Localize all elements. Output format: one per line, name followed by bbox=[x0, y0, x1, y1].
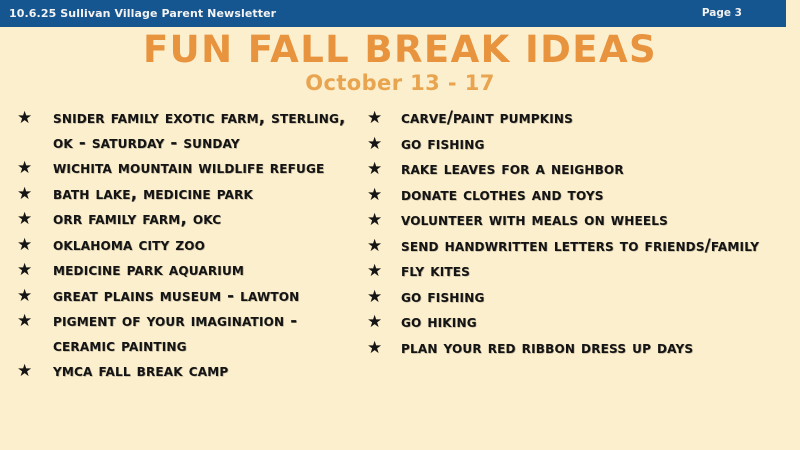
list-item-label: Great Plains Museum - Lawton bbox=[53, 284, 353, 309]
star-bullet-icon: ★ bbox=[17, 359, 39, 384]
star-bullet-icon: ★ bbox=[367, 183, 389, 208]
list-item: ★Oklahoma City Zoo bbox=[14, 233, 362, 258]
list-item: ★Plan Your Red Ribbon Dress Up Days bbox=[364, 336, 784, 361]
page-title: FUN FALL BREAK IDEAS bbox=[0, 29, 800, 71]
star-bullet-icon: ★ bbox=[367, 285, 389, 310]
list-item-label: Plan Your Red Ribbon Dress Up Days bbox=[401, 336, 784, 361]
list-item-label: Snider Family Exotic Farm, Sterling, OK … bbox=[53, 106, 353, 155]
header-bar: 10.6.25 Sullivan Village Parent Newslett… bbox=[0, 0, 786, 27]
list-item-label: Wichita Mountain Wildlife Refuge bbox=[53, 156, 353, 181]
page-number-label: Page 3 bbox=[702, 0, 742, 27]
list-item-label: Carve/Paint Pumpkins bbox=[401, 106, 784, 131]
ideas-list-left: ★Snider Family Exotic Farm, Sterling, OK… bbox=[14, 106, 362, 384]
star-bullet-icon: ★ bbox=[17, 258, 39, 283]
list-item: ★Go Fishing bbox=[364, 285, 784, 310]
star-bullet-icon: ★ bbox=[17, 182, 39, 207]
ideas-list-right: ★Carve/Paint Pumpkins★Go Fishing★Rake Le… bbox=[364, 106, 784, 360]
list-item: ★Fly Kites bbox=[364, 259, 784, 284]
star-bullet-icon: ★ bbox=[17, 207, 39, 232]
list-item: ★Carve/Paint Pumpkins bbox=[364, 106, 784, 131]
list-item: ★Wichita Mountain Wildlife Refuge bbox=[14, 156, 362, 181]
star-bullet-icon: ★ bbox=[17, 233, 39, 258]
ideas-column-left: ★Snider Family Exotic Farm, Sterling, OK… bbox=[14, 106, 362, 385]
list-item-label: Go Hiking bbox=[401, 310, 784, 335]
list-item-label: Go Fishing bbox=[401, 132, 784, 157]
list-item: ★Send Handwritten Letters to Friends/Fam… bbox=[364, 234, 784, 259]
list-item: ★Donate Clothes and Toys bbox=[364, 183, 784, 208]
list-item-label: Send Handwritten Letters to Friends/Fami… bbox=[401, 234, 784, 259]
star-bullet-icon: ★ bbox=[367, 157, 389, 182]
ideas-column-right: ★Carve/Paint Pumpkins★Go Fishing★Rake Le… bbox=[364, 106, 784, 361]
list-item-label: YMCA Fall Break Camp bbox=[53, 359, 353, 384]
star-bullet-icon: ★ bbox=[17, 106, 39, 131]
star-bullet-icon: ★ bbox=[367, 336, 389, 361]
list-item: ★Great Plains Museum - Lawton bbox=[14, 284, 362, 309]
list-item-label: Bath Lake, Medicine Park bbox=[53, 182, 353, 207]
newsletter-header-title: 10.6.25 Sullivan Village Parent Newslett… bbox=[9, 0, 276, 27]
list-item: ★Go Hiking bbox=[364, 310, 784, 335]
star-bullet-icon: ★ bbox=[17, 309, 39, 334]
list-item-label: Go Fishing bbox=[401, 285, 784, 310]
star-bullet-icon: ★ bbox=[367, 310, 389, 335]
page-subtitle: October 13 - 17 bbox=[0, 70, 800, 96]
list-item: ★Medicine Park Aquarium bbox=[14, 258, 362, 283]
list-item-label: Pigment of Your Imagination - Ceramic Pa… bbox=[53, 309, 353, 358]
list-item-label: Rake Leaves for a Neighbor bbox=[401, 157, 784, 182]
list-item: ★Rake Leaves for a Neighbor bbox=[364, 157, 784, 182]
list-item-label: Donate Clothes and Toys bbox=[401, 183, 784, 208]
list-item-label: Medicine Park Aquarium bbox=[53, 258, 353, 283]
star-bullet-icon: ★ bbox=[367, 234, 389, 259]
list-item-label: Volunteer with Meals on Wheels bbox=[401, 208, 784, 233]
list-item: ★YMCA Fall Break Camp bbox=[14, 359, 362, 384]
list-item: ★Bath Lake, Medicine Park bbox=[14, 182, 362, 207]
list-item: ★Go Fishing bbox=[364, 132, 784, 157]
star-bullet-icon: ★ bbox=[367, 259, 389, 284]
star-bullet-icon: ★ bbox=[367, 106, 389, 131]
newsletter-slide: 10.6.25 Sullivan Village Parent Newslett… bbox=[0, 0, 800, 450]
star-bullet-icon: ★ bbox=[17, 284, 39, 309]
list-item: ★Volunteer with Meals on Wheels bbox=[364, 208, 784, 233]
list-item-label: Oklahoma City Zoo bbox=[53, 233, 353, 258]
title-block: FUN FALL BREAK IDEAS October 13 - 17 bbox=[0, 29, 800, 96]
star-bullet-icon: ★ bbox=[367, 132, 389, 157]
list-item: ★Snider Family Exotic Farm, Sterling, OK… bbox=[14, 106, 362, 155]
list-item: ★Pigment of Your Imagination - Ceramic P… bbox=[14, 309, 362, 358]
list-item: ★Orr Family Farm, OKC bbox=[14, 207, 362, 232]
star-bullet-icon: ★ bbox=[17, 156, 39, 181]
list-item-label: Orr Family Farm, OKC bbox=[53, 207, 353, 232]
list-item-label: Fly Kites bbox=[401, 259, 784, 284]
star-bullet-icon: ★ bbox=[367, 208, 389, 233]
